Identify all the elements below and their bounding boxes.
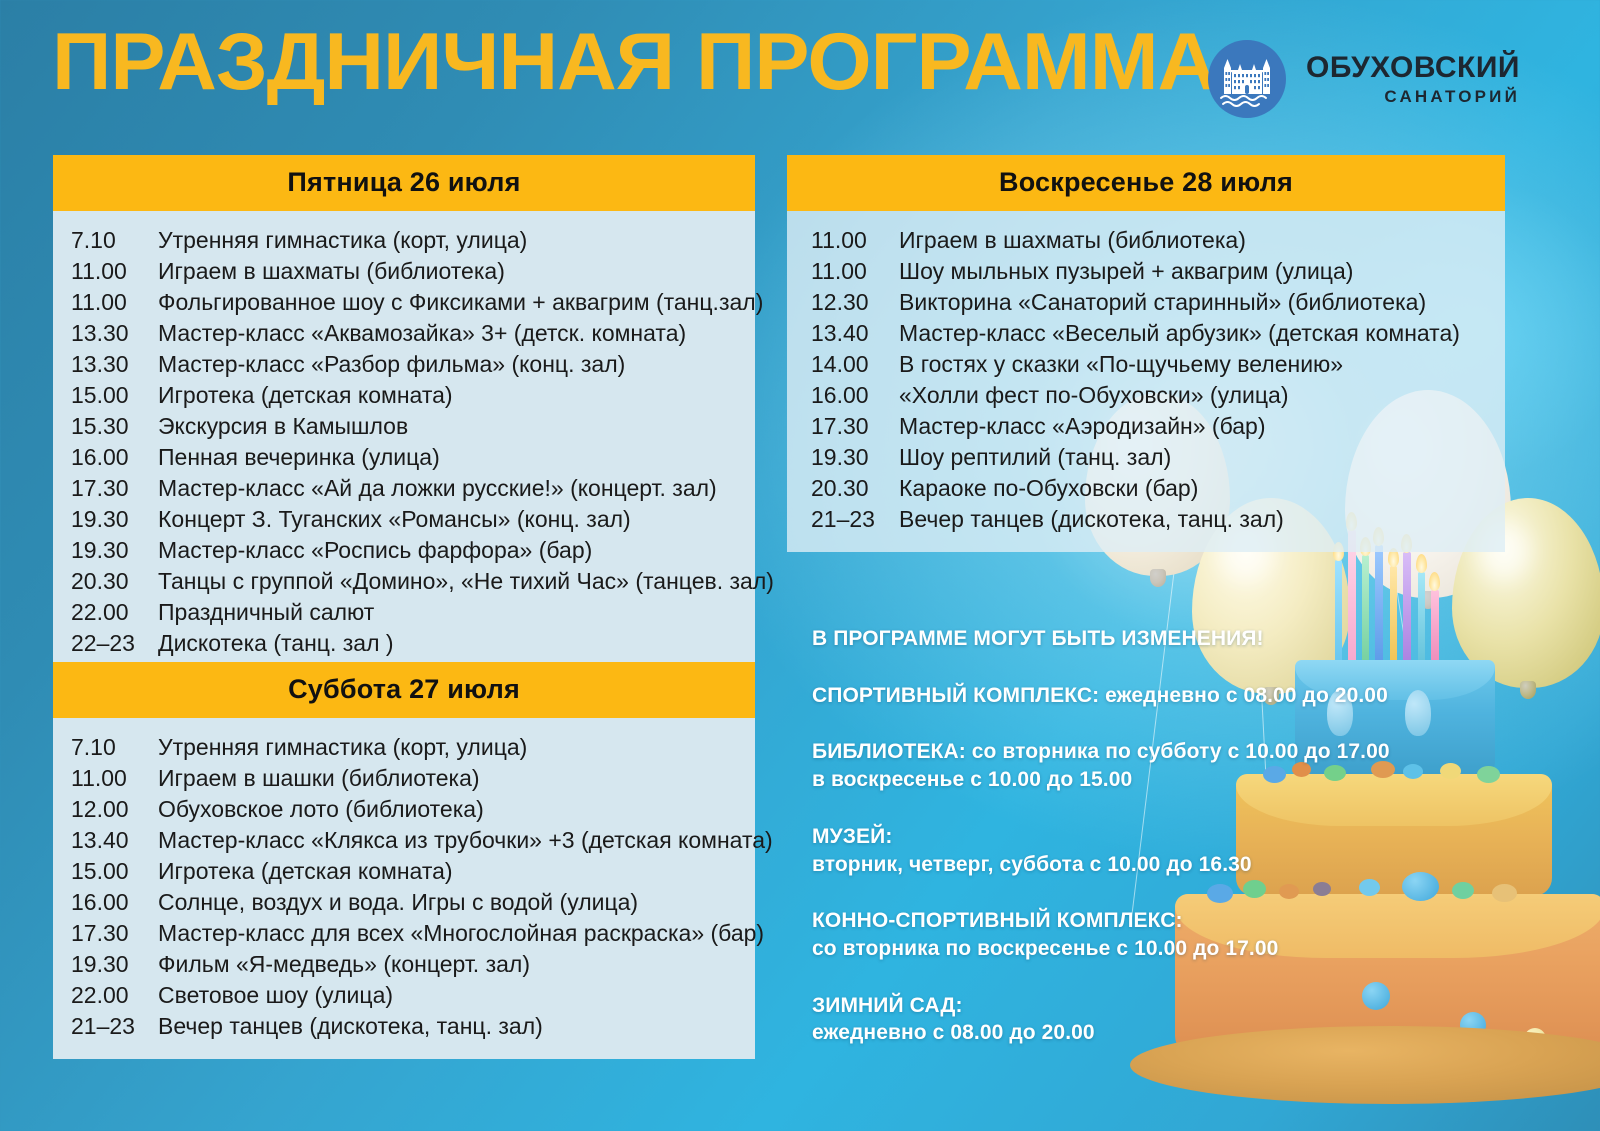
schedule-row-event: Утренняя гимнастика (корт, улица) [158, 227, 527, 254]
schedule-row-event: Экскурсия в Камышлов [158, 413, 408, 440]
info-line: В ПРОГРАММЕ МОГУТ БЫТЬ ИЗМЕНЕНИЯ! [812, 625, 1492, 653]
schedule-row: 15.00Игротека (детская комната) [53, 380, 755, 411]
info-item-museum: МУЗЕЙ:вторник, четверг, суббота с 10.00 … [812, 823, 1492, 878]
info-line: со вторника по воскресенье с 10.00 до 17… [812, 935, 1492, 963]
info-item-library: БИБЛИОТЕКА: со вторника по субботу с 10.… [812, 738, 1492, 793]
schedule-row-event: Мастер-класс «Ай да ложки русские!» (кон… [158, 475, 717, 502]
schedule-row-event: Играем в шахматы (библиотека) [899, 227, 1246, 254]
schedule-row-time: 11.00 [53, 765, 158, 792]
schedule-row-event: Фольгированное шоу с Фиксиками + аквагри… [158, 289, 763, 316]
schedule-row-time: 15.30 [53, 413, 158, 440]
info-line: БИБЛИОТЕКА: со вторника по субботу с 10.… [812, 738, 1492, 766]
schedule-row: 15.00Игротека (детская комната) [53, 856, 755, 887]
info-item-equestrian: КОННО-СПОРТИВНЫЙ КОМПЛЕКС:со вторника по… [812, 907, 1492, 962]
info-item-notice: В ПРОГРАММЕ МОГУТ БЫТЬ ИЗМЕНЕНИЯ! [812, 625, 1492, 653]
logo-subtitle: САНАТОРИЙ [1306, 88, 1520, 105]
brand-logo: ОБУХОВСКИЙ САНАТОРИЙ [1208, 40, 1520, 118]
schedule-row: 11.00Играем в шахматы (библиотека) [787, 225, 1505, 256]
schedule-row-time: 11.00 [53, 289, 158, 316]
schedule-row: 22–23Дискотека (танц. зал ) [53, 628, 755, 659]
schedule-row-event: Шоу мыльных пузырей + аквагрим (улица) [899, 258, 1353, 285]
schedule-row-time: 17.30 [53, 475, 158, 502]
schedule-row-time: 19.30 [53, 506, 158, 533]
schedule-row-time: 22.00 [53, 599, 158, 626]
schedule-row-event: Утренняя гимнастика (корт, улица) [158, 734, 527, 761]
schedule-row-time: 13.40 [787, 320, 899, 347]
day-header-friday: Пятница 26 июля [53, 155, 755, 211]
schedule-row-event: «Холли фест по-Обуховски» (улица) [899, 382, 1288, 409]
info-line: вторник, четверг, суббота с 10.00 до 16.… [812, 851, 1492, 879]
schedule-row-event: Мастер-класс «Веселый арбузик» (детская … [899, 320, 1460, 347]
facility-hours-info: В ПРОГРАММЕ МОГУТ БЫТЬ ИЗМЕНЕНИЯ!СПОРТИВ… [812, 625, 1492, 1047]
schedule-row: 17.30Мастер-класс «Аэродизайн» (бар) [787, 411, 1505, 442]
schedule-row-time: 21–23 [53, 1013, 158, 1040]
schedule-row: 22.00Праздничный салют [53, 597, 755, 628]
schedule-row-time: 19.30 [53, 951, 158, 978]
schedule-row-event: Играем в шахматы (библиотека) [158, 258, 505, 285]
schedule-row: 13.40Мастер-класс «Клякса из трубочки» +… [53, 825, 755, 856]
cake-candy [1492, 884, 1517, 902]
schedule-row: 7.10Утренняя гимнастика (корт, улица) [53, 225, 755, 256]
schedule-row-time: 21–23 [787, 506, 899, 533]
schedule-row: 11.00Шоу мыльных пузырей + аквагрим (ули… [787, 256, 1505, 287]
schedule-row-event: Викторина «Санаторий старинный» (библиот… [899, 289, 1426, 316]
schedule-row-time: 16.00 [53, 889, 158, 916]
schedule-row: 21–23Вечер танцев (дискотека, танц. зал) [787, 504, 1505, 535]
candle-flame [1416, 554, 1427, 573]
schedule-row: 22.00Световое шоу (улица) [53, 980, 755, 1011]
schedule-row: 19.30Концерт З. Туганских «Романсы» (кон… [53, 504, 755, 535]
schedule-row: 16.00Солнце, воздух и вода. Игры с водой… [53, 887, 755, 918]
schedule-row-event: В гостях у сказки «По-щучьему велению» [899, 351, 1343, 378]
schedule-row-time: 22.00 [53, 982, 158, 1009]
info-line: СПОРТИВНЫЙ КОМПЛЕКС: ежедневно с 08.00 д… [812, 682, 1492, 710]
schedule-row-time: 13.30 [53, 351, 158, 378]
schedule-row: 20.30Караоке по-Обуховски (бар) [787, 473, 1505, 504]
schedule-row: 20.30Танцы с группой «Домино», «Не тихий… [53, 566, 755, 597]
info-line: КОННО-СПОРТИВНЫЙ КОМПЛЕКС: [812, 907, 1492, 935]
schedule-row: 19.30Фильм «Я-медведь» (концерт. зал) [53, 949, 755, 980]
schedule-row-time: 7.10 [53, 734, 158, 761]
schedule-row-time: 20.30 [787, 475, 899, 502]
schedule-row: 17.30Мастер-класс «Ай да ложки русские!»… [53, 473, 755, 504]
poster-header: ПРАЗДНИЧНАЯ ПРОГРАММА [0, 0, 1600, 150]
schedule-row-event: Мастер-класс «Роспись фарфора» (бар) [158, 537, 592, 564]
schedule-row-event: Играем в шашки (библиотека) [158, 765, 480, 792]
schedule-rows-saturday: 7.10Утренняя гимнастика (корт, улица)11.… [53, 718, 755, 1059]
sanatorium-building-icon [1208, 40, 1286, 118]
schedule-row-event: Световое шоу (улица) [158, 982, 393, 1009]
schedule-row: 15.30Экскурсия в Камышлов [53, 411, 755, 442]
schedule-row-event: Игротека (детская комната) [158, 382, 453, 409]
schedule-row-event: Солнце, воздух и вода. Игры с водой (ули… [158, 889, 638, 916]
schedule-row-event: Вечер танцев (дискотека, танц. зал) [158, 1013, 543, 1040]
schedule-row: 19.30Мастер-класс «Роспись фарфора» (бар… [53, 535, 755, 566]
schedule-row: 11.00Фольгированное шоу с Фиксиками + ак… [53, 287, 755, 318]
schedule-row: 14.00В гостях у сказки «По-щучьему велен… [787, 349, 1505, 380]
schedule-row-event: Танцы с группой «Домино», «Не тихий Час»… [158, 568, 774, 595]
schedule-row-time: 19.30 [53, 537, 158, 564]
schedule-row-event: Игротека (детская комната) [158, 858, 453, 885]
schedule-row-time: 7.10 [53, 227, 158, 254]
logo-text: ОБУХОВСКИЙ САНАТОРИЙ [1306, 53, 1520, 105]
schedule-row: 21–23Вечер танцев (дискотека, танц. зал) [53, 1011, 755, 1042]
day-header-saturday: Суббота 27 июля [53, 662, 755, 718]
page-title: ПРАЗДНИЧНАЯ ПРОГРАММА [52, 22, 1216, 103]
schedule-row-time: 16.00 [787, 382, 899, 409]
schedule-row: 11.00Играем в шахматы (библиотека) [53, 256, 755, 287]
schedule-row-event: Фильм «Я-медведь» (концерт. зал) [158, 951, 530, 978]
schedule-row: 12.30Викторина «Санаторий старинный» (би… [787, 287, 1505, 318]
schedule-row-event: Дискотека (танц. зал ) [158, 630, 394, 657]
schedule-row-time: 13.30 [53, 320, 158, 347]
schedule-row-time: 20.30 [53, 568, 158, 595]
schedule-row-time: 12.30 [787, 289, 899, 316]
schedule-row-event: Праздничный салют [158, 599, 374, 626]
schedule-row-event: Мастер-класс «Аквамозайка» 3+ (детск. ко… [158, 320, 686, 347]
schedule-row-time: 19.30 [787, 444, 899, 471]
schedule-row-time: 11.00 [787, 258, 899, 285]
schedule-row: 11.00Играем в шашки (библиотека) [53, 763, 755, 794]
schedule-rows-friday: 7.10Утренняя гимнастика (корт, улица)11.… [53, 211, 755, 676]
schedule-row-event: Мастер-класс для всех «Многослойная раск… [158, 920, 764, 947]
schedule-panel-saturday: Суббота 27 июля 7.10Утренняя гимнастика … [53, 662, 755, 1059]
info-line: ежедневно с 08.00 до 20.00 [812, 1019, 1492, 1047]
day-header-sunday: Воскресенье 28 июля [787, 155, 1505, 211]
info-item-sport: СПОРТИВНЫЙ КОМПЛЕКС: ежедневно с 08.00 д… [812, 682, 1492, 710]
schedule-row-event: Концерт З. Туганских «Романсы» (конц. за… [158, 506, 631, 533]
schedule-panel-sunday: Воскресенье 28 июля 11.00Играем в шахмат… [787, 155, 1505, 552]
schedule-row-event: Шоу рептилий (танц. зал) [899, 444, 1171, 471]
schedule-rows-sunday: 11.00Играем в шахматы (библиотека)11.00Ш… [787, 211, 1505, 552]
schedule-row: 12.00Обуховское лото (библиотека) [53, 794, 755, 825]
schedule-row-time: 17.30 [787, 413, 899, 440]
schedule-row: 13.40Мастер-класс «Веселый арбузик» (дет… [787, 318, 1505, 349]
schedule-row-event: Вечер танцев (дискотека, танц. зал) [899, 506, 1284, 533]
schedule-row-time: 16.00 [53, 444, 158, 471]
schedule-panel-friday: Пятница 26 июля 7.10Утренняя гимнастика … [53, 155, 755, 676]
schedule-row-event: Мастер-класс «Клякса из трубочки» +3 (де… [158, 827, 773, 854]
schedule-row: 16.00«Холли фест по-Обуховски» (улица) [787, 380, 1505, 411]
schedule-row: 7.10Утренняя гимнастика (корт, улица) [53, 732, 755, 763]
schedule-row-time: 14.00 [787, 351, 899, 378]
schedule-row-event: Караоке по-Обуховски (бар) [899, 475, 1198, 502]
schedule-row-event: Мастер-класс «Разбор фильма» (конц. зал) [158, 351, 625, 378]
schedule-row: 13.30Мастер-класс «Аквамозайка» 3+ (детс… [53, 318, 755, 349]
schedule-row-time: 15.00 [53, 382, 158, 409]
schedule-row-time: 12.00 [53, 796, 158, 823]
schedule-row-time: 13.40 [53, 827, 158, 854]
schedule-row-event: Пенная вечеринка (улица) [158, 444, 440, 471]
schedule-row-time: 17.30 [53, 920, 158, 947]
info-item-wintergarden: ЗИМНИЙ САД:ежедневно с 08.00 до 20.00 [812, 992, 1492, 1047]
logo-name: ОБУХОВСКИЙ [1306, 53, 1520, 83]
schedule-row-time: 15.00 [53, 858, 158, 885]
schedule-row-time: 11.00 [787, 227, 899, 254]
schedule-row-event: Мастер-класс «Аэродизайн» (бар) [899, 413, 1265, 440]
info-line: МУЗЕЙ: [812, 823, 1492, 851]
info-line: ЗИМНИЙ САД: [812, 992, 1492, 1020]
cake-candy [1524, 1028, 1546, 1050]
schedule-row-time: 11.00 [53, 258, 158, 285]
candle-flame [1429, 572, 1440, 591]
schedule-row-time: 22–23 [53, 630, 158, 657]
schedule-row-event: Обуховское лото (библиотека) [158, 796, 484, 823]
schedule-row: 13.30Мастер-класс «Разбор фильма» (конц.… [53, 349, 755, 380]
schedule-row: 16.00Пенная вечеринка (улица) [53, 442, 755, 473]
schedule-row: 17.30Мастер-класс для всех «Многослойная… [53, 918, 755, 949]
schedule-row: 19.30Шоу рептилий (танц. зал) [787, 442, 1505, 473]
info-line: в воскресенье с 10.00 до 15.00 [812, 766, 1492, 794]
